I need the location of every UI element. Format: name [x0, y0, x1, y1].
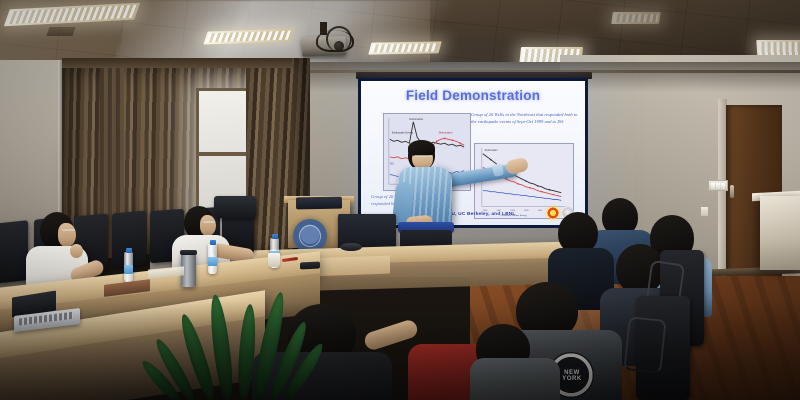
projector-lens — [334, 41, 344, 51]
annotation-iss: Deformation — [439, 131, 453, 134]
curtain-rail — [62, 58, 292, 68]
smartphone[interactable] — [300, 261, 320, 269]
slide-note-right: Group of 26 Wells in the Northeast that … — [471, 111, 579, 125]
annotation-earthquake: Earthquake Events — [392, 131, 414, 134]
ceiling-vent — [47, 27, 76, 36]
attendee-glasses — [62, 229, 75, 231]
lecture-room-photo: Field Demonstration Earthquake Events De… — [0, 0, 800, 400]
slide-title: Field Demonstration — [361, 88, 585, 103]
door-handle[interactable] — [730, 185, 734, 198]
paper-cup — [268, 253, 280, 267]
ceiling-projector — [300, 22, 352, 56]
bottle-cap — [210, 240, 216, 245]
bottle-cap — [272, 234, 278, 239]
bottle-cap — [126, 248, 132, 253]
presenter-wrist-cuff — [492, 163, 504, 177]
annotation-wells: ISS — [390, 163, 394, 166]
light-switch-plate[interactable] — [708, 180, 728, 191]
ceiling-light-panel — [368, 41, 442, 54]
attendee-torso — [470, 358, 560, 400]
chair-armrest — [623, 316, 666, 374]
white-lectern — [760, 196, 800, 270]
presenter-hair — [408, 140, 435, 156]
podium-monitor — [296, 197, 342, 210]
ceiling-light-panel — [611, 12, 661, 24]
audience-laptop[interactable] — [14, 306, 80, 328]
attendee-face — [58, 223, 76, 247]
attendee-face — [200, 215, 216, 236]
attendee-front-4 — [470, 330, 560, 400]
water-bottle — [124, 252, 133, 282]
attendee-hand — [70, 244, 83, 258]
bottle-label — [208, 257, 217, 266]
snake-plant — [176, 276, 326, 400]
bottle-label — [124, 265, 133, 274]
annotation-peak: Deformation — [409, 118, 423, 121]
presenter — [398, 140, 518, 255]
tumbler-lid — [180, 250, 197, 255]
attendee-glasses — [203, 221, 215, 223]
window-mullion — [196, 152, 252, 156]
presenter-glasses — [414, 155, 432, 157]
water-bottle — [208, 244, 217, 274]
conference-microphone-puck — [340, 243, 362, 251]
